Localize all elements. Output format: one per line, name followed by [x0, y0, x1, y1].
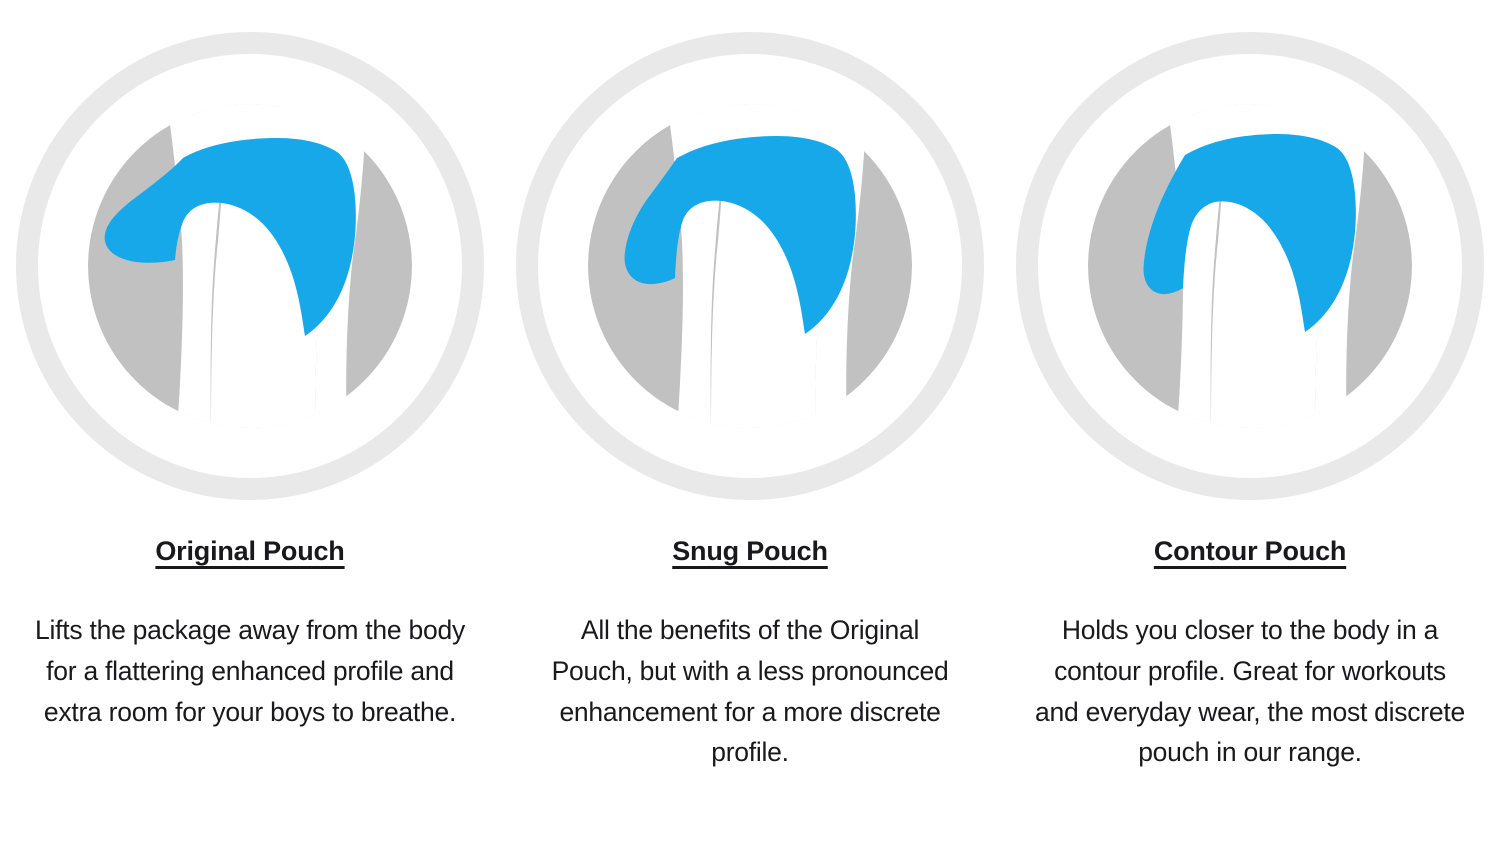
pouch-title-original: Original Pouch: [155, 536, 344, 567]
pouch-card-original[interactable]: Original Pouch Lifts the package away fr…: [0, 0, 500, 868]
pouch-title-contour: Contour Pouch: [1154, 536, 1346, 567]
pouch-description-snug: All the benefits of the Original Pouch, …: [550, 610, 950, 773]
snug-pouch-illustration: [515, 26, 985, 506]
contour-pouch-illustration: [1015, 26, 1485, 506]
pouch-card-snug[interactable]: Snug Pouch All the benefits of the Origi…: [500, 0, 1000, 868]
pouch-card-contour[interactable]: Contour Pouch Holds you closer to the bo…: [1000, 0, 1500, 868]
pouch-title-snug: Snug Pouch: [672, 536, 828, 567]
pouch-description-contour: Holds you closer to the body in a contou…: [1035, 610, 1465, 773]
pouch-comparison-section: Original Pouch Lifts the package away fr…: [0, 0, 1500, 868]
pouch-description-original: Lifts the package away from the body for…: [35, 610, 465, 732]
original-pouch-illustration: [15, 26, 485, 506]
